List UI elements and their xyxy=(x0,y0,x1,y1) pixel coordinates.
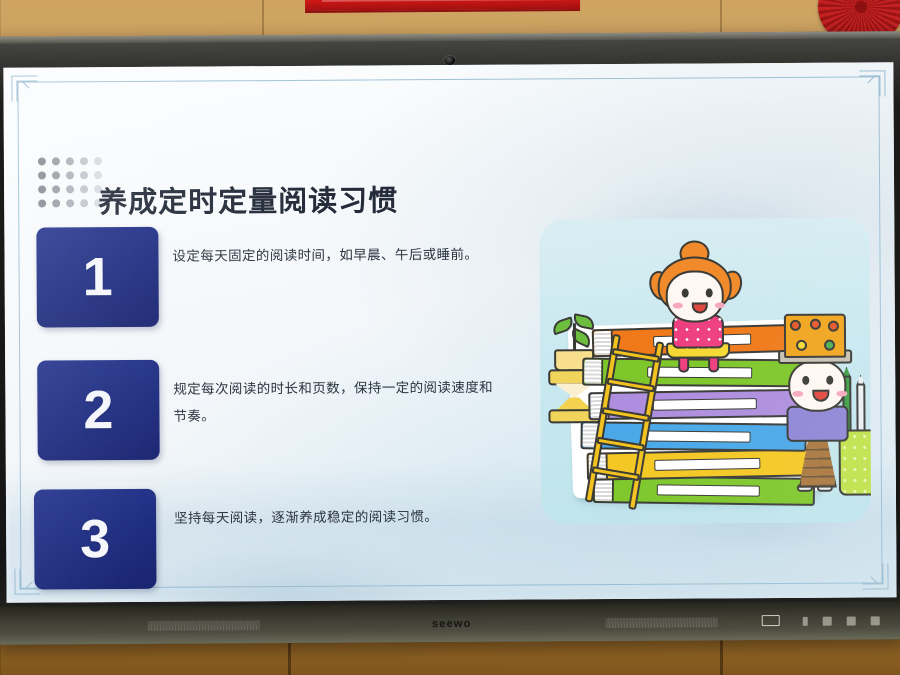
dot-grid-icon xyxy=(38,157,105,210)
banner-highlight xyxy=(322,0,564,2)
pencil-icon xyxy=(856,383,865,433)
item-number: 1 xyxy=(82,250,112,304)
girl-cheek xyxy=(715,302,725,308)
corner-ornament-icon xyxy=(859,70,885,96)
item-text: 规定每次阅读的时长和页数，保持一定的阅读速度和节奏。 xyxy=(173,374,503,430)
speaker-grille xyxy=(148,620,260,631)
fan-hub xyxy=(855,1,867,13)
boy-eye xyxy=(802,376,809,385)
girl-leg xyxy=(708,356,719,372)
indicator-light xyxy=(803,617,808,626)
item-text: 坚持每天阅读，逐渐养成稳定的阅读习惯。 xyxy=(174,503,504,532)
boy-cheek xyxy=(792,391,803,397)
camera-icon xyxy=(444,56,455,65)
children-reading-illustration xyxy=(539,217,871,524)
speaker-grille xyxy=(606,617,718,628)
interactive-flat-panel[interactable]: 养成定时定量阅读习惯 1 设定每天固定的阅读时间，如早晨、午后或睡前。 2 规定… xyxy=(0,31,900,645)
item-number-badge: 3 xyxy=(34,489,157,590)
presentation-slide: 养成定时定量阅读习惯 1 设定每天固定的阅读时间，如早晨、午后或睡前。 2 规定… xyxy=(3,62,896,602)
boy-eye xyxy=(826,376,833,385)
seewo-brand-logo: seewo xyxy=(432,618,472,630)
corner-ornament-icon xyxy=(11,76,37,102)
boy-hat-decoration xyxy=(784,314,846,358)
panel-bottom-bezel: seewo xyxy=(0,601,900,645)
item-number-badge: 1 xyxy=(36,227,159,328)
cabinet-seam xyxy=(720,636,723,675)
item-text: 设定每天固定的阅读时间，如早晨、午后或睡前。 xyxy=(172,241,502,270)
boy-face xyxy=(788,360,846,412)
girl-cheek xyxy=(673,303,683,309)
girl-eye xyxy=(682,289,689,298)
port-icon[interactable] xyxy=(847,617,856,626)
girl-leg xyxy=(678,357,689,373)
item-number-badge: 2 xyxy=(37,360,160,461)
item-number: 2 xyxy=(83,383,113,437)
panel-screen[interactable]: 养成定时定量阅读习惯 1 设定每天固定的阅读时间，如早晨、午后或睡前。 2 规定… xyxy=(3,62,896,602)
boy-cheek xyxy=(836,391,847,397)
red-banner xyxy=(305,0,580,13)
port-icon[interactable] xyxy=(871,616,880,625)
girl-face xyxy=(666,270,724,322)
slide-title: 养成定时定量阅读习惯 xyxy=(98,178,398,222)
girl-eye xyxy=(706,288,713,297)
power-button[interactable] xyxy=(762,615,780,626)
item-number: 3 xyxy=(80,512,110,566)
classroom-scene: 礼信 xyxy=(0,0,900,675)
port-icon[interactable] xyxy=(823,617,832,626)
